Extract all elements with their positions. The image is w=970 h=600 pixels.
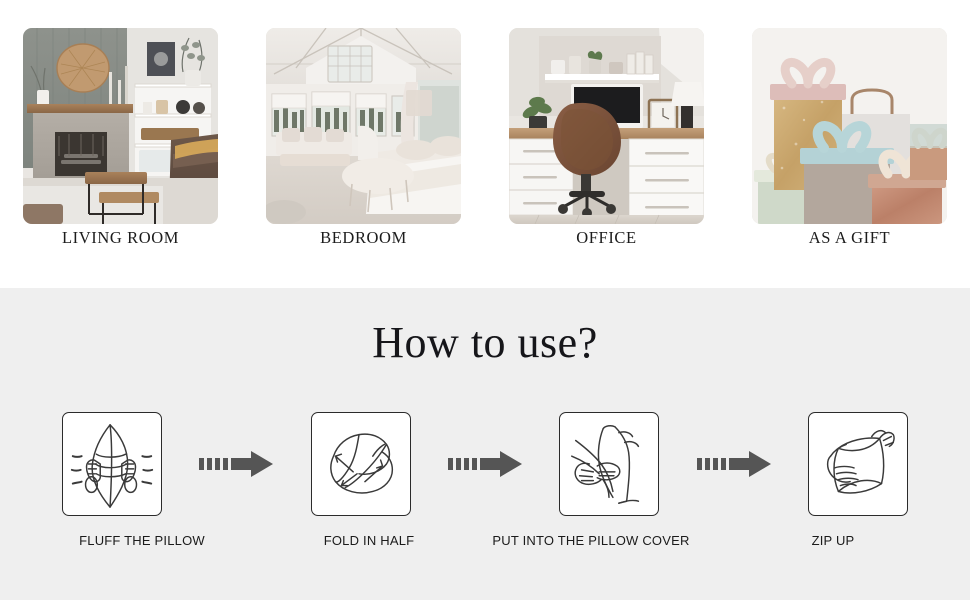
step-label-zip-up: ZIP UP bbox=[812, 533, 855, 548]
bedroom-photo bbox=[266, 28, 461, 224]
scene-label-as-a-gift: AS A GIFT bbox=[752, 228, 947, 256]
scene-label-office: OFFICE bbox=[509, 228, 704, 256]
step-fold-in-half bbox=[311, 412, 411, 516]
dashed-arrow-right-icon-3 bbox=[695, 449, 773, 479]
scene-label-living-room: LIVING ROOM bbox=[23, 228, 218, 256]
scene-label-bedroom: BEDROOM bbox=[266, 228, 461, 256]
dashed-arrow-right-icon-1 bbox=[197, 449, 275, 479]
scene-card-as-a-gift[interactable] bbox=[752, 28, 947, 224]
zip-pillow-icon bbox=[808, 412, 908, 516]
scene-label-row: LIVING ROOM BEDROOM OFFICE AS A GIFT bbox=[23, 228, 947, 256]
how-to-use-title: How to use? bbox=[0, 317, 970, 368]
step-label-fold-in-half: FOLD IN HALF bbox=[324, 533, 415, 548]
dashed-arrow-right-icon-2 bbox=[446, 449, 524, 479]
how-to-use-steps bbox=[62, 412, 908, 516]
step-fluff-the-pillow bbox=[62, 412, 162, 516]
step-label-fluff-the-pillow: FLUFF THE PILLOW bbox=[79, 533, 205, 548]
how-to-use-section: How to use? bbox=[0, 288, 970, 600]
step-put-into-the-pillow-cover bbox=[559, 412, 659, 516]
insert-pillow-icon bbox=[559, 412, 659, 516]
scene-card-bedroom[interactable] bbox=[266, 28, 461, 224]
how-to-use-step-labels: FLUFF THE PILLOW FOLD IN HALF PUT INTO T… bbox=[0, 533, 970, 555]
office-photo bbox=[509, 28, 704, 224]
step-zip-up bbox=[808, 412, 908, 516]
scene-card-office[interactable] bbox=[509, 28, 704, 224]
gift-photo bbox=[752, 28, 947, 224]
product-detail-panel: LIVING ROOM BEDROOM OFFICE AS A GIFT How… bbox=[0, 0, 970, 600]
living-room-photo bbox=[23, 28, 218, 224]
scene-card-row bbox=[23, 28, 947, 224]
usage-scenario-gallery: LIVING ROOM BEDROOM OFFICE AS A GIFT bbox=[0, 0, 970, 288]
scene-card-living-room[interactable] bbox=[23, 28, 218, 224]
step-label-put-into-the-pillow-cover: PUT INTO THE PILLOW COVER bbox=[492, 533, 689, 548]
fold-pillow-icon bbox=[311, 412, 411, 516]
fluff-pillow-icon bbox=[62, 412, 162, 516]
